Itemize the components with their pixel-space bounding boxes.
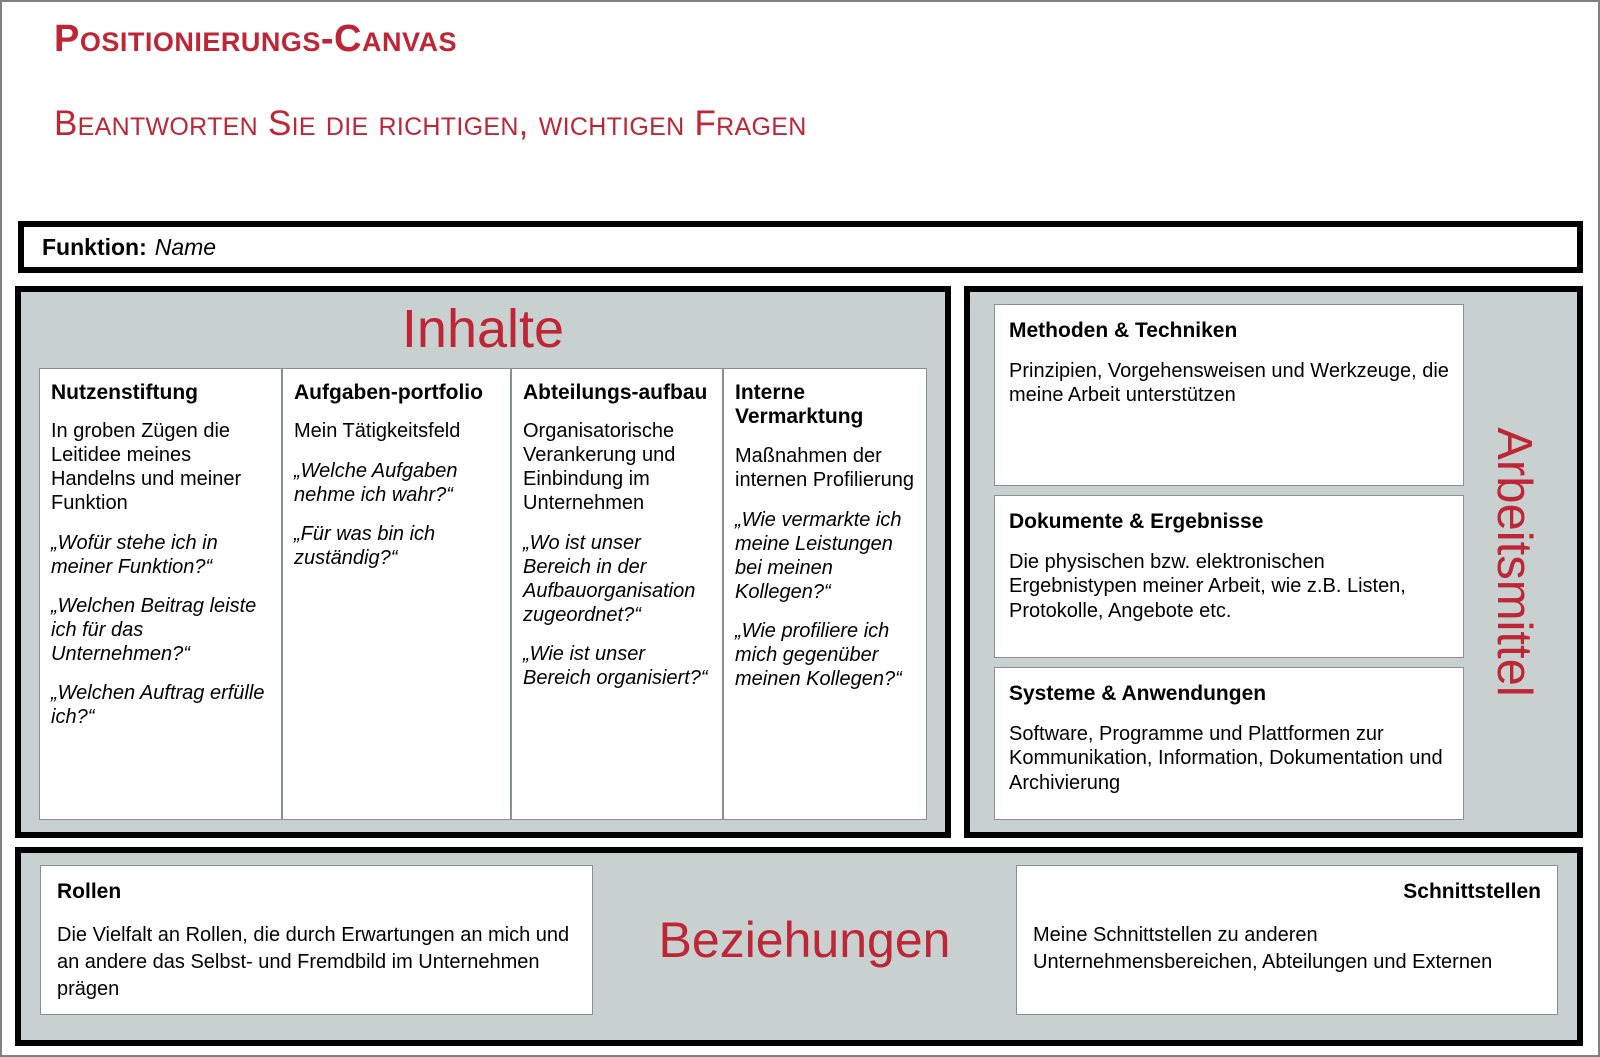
inhalte-panel: Inhalte Nutzenstiftung In groben Zügen d… xyxy=(15,286,951,838)
page-subtitle: Beantworten Sie die richtigen, wichtigen… xyxy=(54,104,1554,144)
card-title: Methoden & Techniken xyxy=(1009,319,1449,343)
arbeitsmittel-card-methoden[interactable]: Methoden & Techniken Prinzipien, Vorgehe… xyxy=(994,304,1464,486)
card-title: Schnittstellen xyxy=(1033,880,1541,904)
column-question: „Welche Aufgaben nehme ich wahr?“ xyxy=(294,459,499,507)
column-description: Organisatorische Verankerung und Einbind… xyxy=(523,419,711,515)
inhalte-columns: Nutzenstiftung In groben Zügen die Leiti… xyxy=(39,368,927,820)
column-description: Mein Tätigkeitsfeld xyxy=(294,419,499,443)
page-title: Positionierungs-Canvas xyxy=(54,20,1554,60)
beziehungen-card-rollen[interactable]: Rollen Die Vielfalt an Rollen, die durch… xyxy=(40,865,593,1015)
inhalte-column-interne-vermarktung[interactable]: Interne Vermarktung Maßnahmen der intern… xyxy=(724,369,926,819)
column-title: Nutzenstiftung xyxy=(51,381,270,405)
card-title: Dokumente & Ergebnisse xyxy=(1009,510,1449,534)
column-question: „Wie vermarkte ich meine Leistungen bei … xyxy=(735,508,915,604)
column-question: „Wo ist unser Bereich in der Aufbauorgan… xyxy=(523,531,711,627)
card-title: Systeme & Anwendungen xyxy=(1009,682,1449,706)
column-question: „Wie ist unser Bereich organisiert?“ xyxy=(523,642,711,690)
inhalte-column-aufgabenportfolio[interactable]: Aufgaben-portfolio Mein Tätigkeitsfeld „… xyxy=(283,369,512,819)
card-title: Rollen xyxy=(57,880,576,904)
funktion-label: Funktion: xyxy=(42,234,147,261)
column-description: In groben Zügen die Leitidee meines Hand… xyxy=(51,419,270,515)
arbeitsmittel-card-dokumente[interactable]: Dokumente & Ergebnisse Die physischen bz… xyxy=(994,495,1464,658)
header-block: Positionierungs-Canvas Beantworten Sie d… xyxy=(54,20,1554,144)
column-question: „Wofür stehe ich in meiner Funktion?“ xyxy=(51,531,270,579)
column-title: Abteilungs-aufbau xyxy=(523,381,711,405)
funktion-bar[interactable]: Funktion: Name xyxy=(18,221,1583,273)
column-question: „Für was bin ich zuständig?“ xyxy=(294,522,499,570)
positionierungs-canvas-page: Positionierungs-Canvas Beantworten Sie d… xyxy=(0,0,1600,1057)
beziehungen-panel: Rollen Die Vielfalt an Rollen, die durch… xyxy=(15,847,1583,1046)
inhalte-column-nutzenstiftung[interactable]: Nutzenstiftung In groben Zügen die Leiti… xyxy=(40,369,283,819)
column-question: „Welchen Beitrag leiste ich für das Unte… xyxy=(51,594,270,666)
column-title: Interne Vermarktung xyxy=(735,381,915,430)
inhalte-heading: Inhalte xyxy=(21,302,945,356)
arbeitsmittel-heading-rotated: Arbeitsmittel xyxy=(1459,292,1569,832)
inhalte-column-abteilungsaufbau[interactable]: Abteilungs-aufbau Organisatorische Veran… xyxy=(512,369,724,819)
card-description: Die physischen bzw. elektronischen Ergeb… xyxy=(1009,550,1449,623)
card-description: Prinzipien, Vorgehensweisen und Werkzeug… xyxy=(1009,359,1449,408)
card-description: Software, Programme und Plattformen zur … xyxy=(1009,722,1449,795)
arbeitsmittel-card-systeme[interactable]: Systeme & Anwendungen Software, Programm… xyxy=(994,667,1464,820)
card-description: Die Vielfalt an Rollen, die durch Erwart… xyxy=(57,922,576,1002)
column-title: Aufgaben-portfolio xyxy=(294,381,499,405)
column-question: „Welchen Auftrag erfülle ich?“ xyxy=(51,681,270,729)
funktion-value[interactable]: Name xyxy=(155,234,216,261)
arbeitsmittel-heading: Arbeitsmittel xyxy=(1486,427,1542,697)
arbeitsmittel-cards: Methoden & Techniken Prinzipien, Vorgehe… xyxy=(994,304,1464,820)
arbeitsmittel-panel: Methoden & Techniken Prinzipien, Vorgehe… xyxy=(964,286,1583,838)
card-description: Meine Schnittstellen zu anderen Unterneh… xyxy=(1033,922,1541,976)
beziehungen-heading: Beziehungen xyxy=(593,865,1016,1015)
beziehungen-card-schnittstellen[interactable]: Schnittstellen Meine Schnittstellen zu a… xyxy=(1016,865,1558,1015)
column-description: Maßnahmen der internen Profilierung xyxy=(735,444,915,492)
column-question: „Wie profiliere ich mich gegenüber meine… xyxy=(735,619,915,691)
